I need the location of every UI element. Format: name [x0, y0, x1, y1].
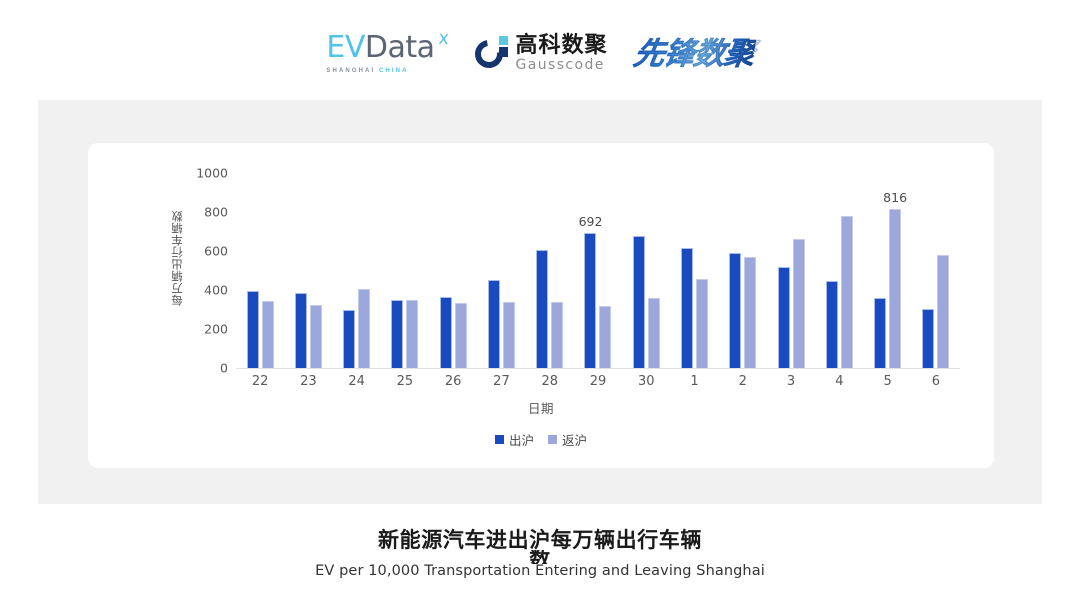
caption-title-overflow-glyph: 数: [0, 550, 1080, 564]
bar-back: [358, 289, 370, 368]
gausscode-square-dark-shape: [499, 47, 508, 57]
bar-out: [778, 267, 790, 368]
y-axis-tick-label: 800: [204, 205, 228, 220]
bar-group: [670, 173, 718, 368]
bar-group: [815, 173, 863, 368]
bar-out: [247, 291, 259, 368]
gausscode-logo: 高科数聚 Gausscode: [475, 34, 608, 72]
bar-group: [912, 173, 960, 368]
caption-block: 新能源汽车进出沪每万辆出行车辆 数 EV per 10,000 Transpor…: [0, 528, 1080, 579]
xianfeng-shuju-logo: 先锋数聚: [631, 38, 756, 69]
x-axis-tick-label: 3: [787, 374, 795, 389]
y-axis-tick-label: 1000: [196, 166, 228, 181]
bar-group: [381, 173, 429, 368]
bar-back: [599, 306, 611, 368]
bar-group: [574, 173, 622, 368]
bar-back: [503, 302, 515, 368]
bar-group: [477, 173, 525, 368]
x-axis-tick-label: 1: [690, 374, 698, 389]
caption-title-en: EV per 10,000 Transportation Entering an…: [0, 563, 1080, 579]
logo-bar: EVData x SHANGHAI CHINA 高科数聚 Gausscode 先…: [0, 22, 1080, 84]
x-axis-tick-label: 4: [835, 374, 843, 389]
bar-out: [922, 309, 934, 368]
x-axis-tick-label: 27: [493, 374, 510, 389]
gausscode-en-text: Gausscode: [516, 58, 608, 72]
bar-back: [744, 257, 756, 368]
x-axis-ticks: 222324252627282930123456: [236, 374, 960, 394]
bar-out: [633, 236, 645, 368]
bar-group: [526, 173, 574, 368]
x-axis-tick-label: 6: [932, 374, 940, 389]
bar-back: [262, 301, 274, 368]
bar-group: [236, 173, 284, 368]
bar-back: [551, 302, 563, 368]
legend-item[interactable]: 返沪: [548, 430, 587, 449]
bar-out: [826, 281, 838, 368]
bar-group: [719, 173, 767, 368]
x-axis-title: 日期: [88, 398, 994, 417]
bar-back: [455, 303, 467, 368]
bar-chart: 每万辆出行车辆数 02004006008001000 2223242526272…: [88, 143, 994, 468]
bar-out: [729, 253, 741, 368]
y-axis-title: 每万辆出行车辆数: [170, 178, 186, 338]
bar-out: [536, 250, 548, 368]
gausscode-wordmark: 高科数聚 Gausscode: [516, 34, 608, 72]
x-axis-tick-label: 22: [252, 374, 269, 389]
y-axis-tick-label: 600: [204, 244, 228, 259]
x-axis-tick-label: 24: [348, 374, 365, 389]
gausscode-square-light-shape: [499, 36, 508, 45]
bar-value-label: 692: [579, 214, 603, 229]
bar-out: [295, 293, 307, 368]
evdata-data-text: Data: [365, 33, 435, 63]
gausscode-circle-icon: [475, 36, 509, 70]
legend-label: 返沪: [562, 430, 587, 449]
x-axis-tick-label: 23: [300, 374, 317, 389]
x-axis-tick-label: 28: [541, 374, 558, 389]
bar-group: [429, 173, 477, 368]
chart-legend: 出沪返沪: [88, 430, 994, 449]
gausscode-cn-text: 高科数聚: [516, 34, 608, 56]
bar-group: [284, 173, 332, 368]
bar-group: [767, 173, 815, 368]
y-axis-tick-label: 200: [204, 322, 228, 337]
legend-label: 出沪: [509, 430, 534, 449]
bar-out: [681, 248, 693, 368]
x-axis-tick-label: 2: [739, 374, 747, 389]
y-axis-ticks: 02004006008001000: [188, 173, 232, 368]
legend-swatch-icon: [548, 435, 557, 444]
plot-area: [236, 173, 960, 368]
legend-item[interactable]: 出沪: [495, 430, 534, 449]
bar-out: [440, 297, 452, 368]
bar-value-label: 816: [883, 190, 907, 205]
bar-back: [937, 255, 949, 368]
bar-back: [310, 305, 322, 368]
evdata-ev-text: EV: [326, 33, 364, 63]
bar-out: [488, 280, 500, 368]
x-axis-tick-label: 25: [397, 374, 414, 389]
evdata-tagline: SHANGHAI CHINA: [326, 68, 408, 74]
legend-swatch-icon: [495, 435, 504, 444]
y-axis-tick-label: 400: [204, 283, 228, 298]
x-axis-tick-label: 26: [445, 374, 462, 389]
x-axis-tick-label: 29: [590, 374, 607, 389]
x-axis-tick-label: 30: [638, 374, 655, 389]
bar-out: [343, 310, 355, 368]
bar-back: [648, 298, 660, 368]
bar-out: [391, 300, 403, 368]
bar-group: [333, 173, 381, 368]
bar-back: [696, 279, 708, 368]
evdata-tagline-country: CHINA: [379, 68, 409, 74]
bar-back: [793, 239, 805, 368]
chart-card: 每万辆出行车辆数 02004006008001000 2223242526272…: [88, 143, 994, 468]
evdata-logo: EVData x SHANGHAI CHINA: [326, 33, 448, 74]
bar-back: [841, 216, 853, 368]
evdata-tagline-city: SHANGHAI: [326, 68, 379, 74]
slide-root: EVData x SHANGHAI CHINA 高科数聚 Gausscode 先…: [0, 0, 1080, 608]
caption-overflow-text: 数: [529, 550, 551, 564]
y-axis-tick-label: 0: [220, 361, 228, 376]
x-axis-tick-label: 5: [883, 374, 891, 389]
evdata-cross-icon: x: [438, 28, 449, 48]
bar-back: [406, 300, 418, 368]
bar-out: [584, 233, 596, 368]
bar-group: [622, 173, 670, 368]
evdata-wordmark: EVData: [326, 33, 434, 63]
bar-back: [889, 209, 901, 368]
bar-out: [874, 298, 886, 368]
